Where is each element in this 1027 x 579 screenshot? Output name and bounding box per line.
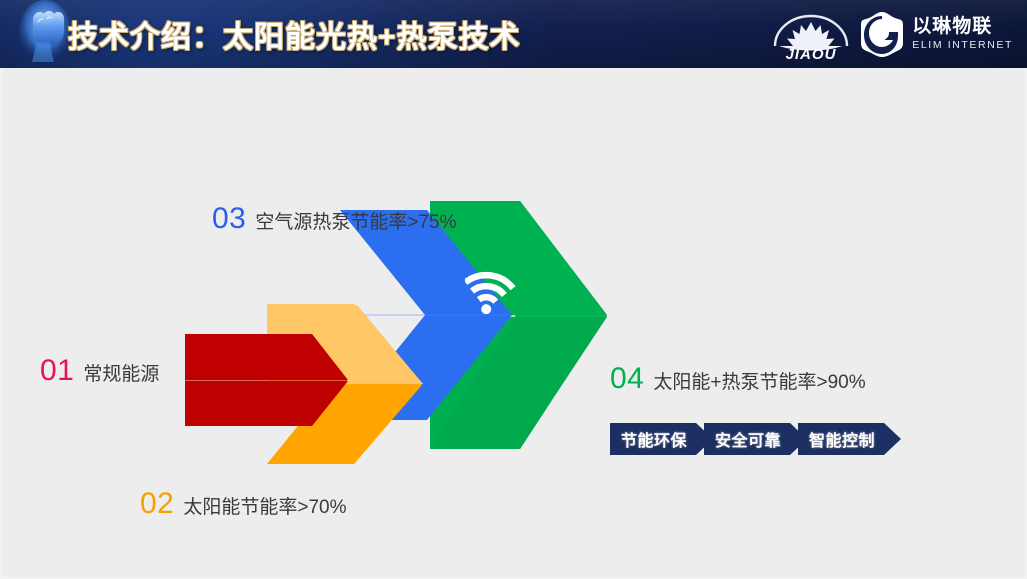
badge-smart-control: 智能控制 <box>798 423 884 455</box>
slide: 技术介绍：太阳能光热+热泵技术 JIAOU 以琳物联 ELIM INTERNET <box>0 0 1027 579</box>
stage-number-03: 03 <box>212 202 246 236</box>
page-title: 技术介绍：太阳能光热+热泵技术 <box>68 8 521 60</box>
stage-number-01: 01 <box>40 354 74 388</box>
jiaou-logo: JIAOU <box>763 6 859 62</box>
badge-label: 智能控制 <box>809 427 875 451</box>
elim-logo-cn: 以琳物联 <box>912 17 1013 36</box>
stage-label-04: 04 太阳能+热泵节能率>90% <box>610 362 866 396</box>
elim-logo-en: ELIM INTERNET <box>912 40 1013 51</box>
badge-energy-saving: 节能环保 <box>610 423 696 455</box>
badge-safe-reliable: 安全可靠 <box>704 423 790 455</box>
stage-label-01: 01 常规能源 <box>40 354 159 388</box>
badge-label: 安全可靠 <box>715 427 781 451</box>
slide-header: 技术介绍：太阳能光热+热泵技术 JIAOU 以琳物联 ELIM INTERNET <box>0 0 1027 68</box>
wifi-signal-icon <box>465 258 523 316</box>
stage-label-03: 03 空气源热泵节能率>75% <box>212 202 457 236</box>
stage-text-03: 空气源热泵节能率>75% <box>255 207 456 234</box>
badge-label: 节能环保 <box>621 427 687 451</box>
elim-logo: 以琳物联 ELIM INTERNET <box>860 9 1013 59</box>
stage-text-02: 太阳能节能率>70% <box>183 492 346 519</box>
raised-fist-icon <box>14 0 76 68</box>
slide-body: 01 常规能源 02 太阳能节能率>70% 03 空气源热泵节能率>75% 04… <box>0 68 1027 579</box>
svg-text:JIAOU: JIAOU <box>786 46 837 62</box>
stage-number-02: 02 <box>140 487 174 521</box>
stage-text-04: 太阳能+热泵节能率>90% <box>653 367 865 394</box>
stage-number-04: 04 <box>610 362 644 396</box>
badge-row: 节能环保 安全可靠 智能控制 <box>610 423 884 455</box>
stage-label-02: 02 太阳能节能率>70% <box>140 487 347 521</box>
elim-g-mark-icon <box>860 11 904 57</box>
stage-text-01: 常规能源 <box>83 359 159 386</box>
